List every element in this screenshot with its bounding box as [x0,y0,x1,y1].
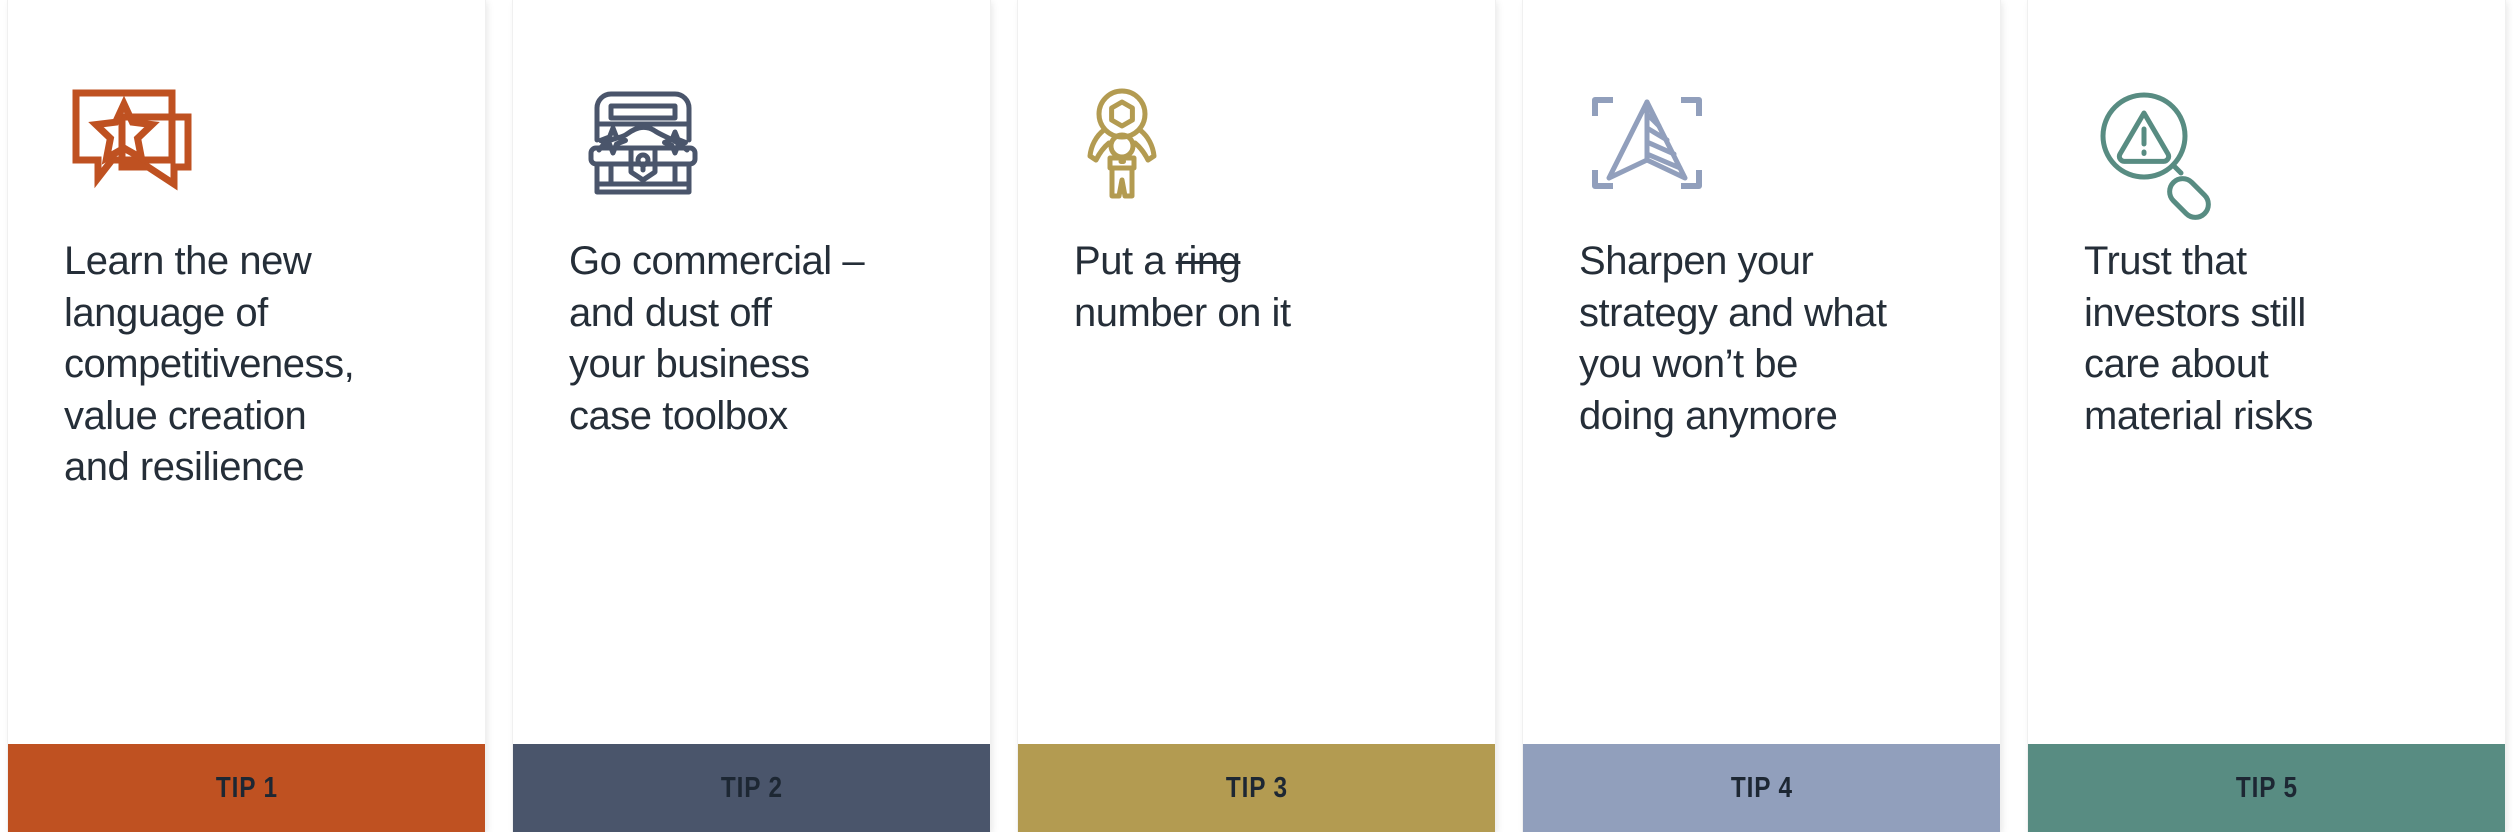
tip-card-3[interactable]: Put a ring number on it TIP 3 [1018,0,1495,832]
tip-card-3-headline: Put a ring number on it [1074,236,1461,339]
tip-card-3-footer-label: TIP 3 [1225,772,1287,805]
tip-card-4-footer[interactable]: TIP 4 [1523,744,2000,832]
tip-card-3-body: Put a ring number on it [1018,0,1495,744]
tip-card-1-footer-label: TIP 1 [215,772,277,805]
tip-card-4-footer-label: TIP 4 [1730,772,1792,805]
tip-card-5[interactable]: Trust that investors still care about ma… [2028,0,2505,832]
tip-card-4-body: Sharpen your strategy and what you won’t… [1523,0,2000,744]
tip-card-3-headline-struck: ring [1176,239,1241,283]
tip-card-3-headline-suffix: number on it [1074,291,1291,335]
tip-card-4[interactable]: Sharpen your strategy and what you won’t… [1523,0,2000,832]
tip-card-4-headline: Sharpen your strategy and what you won’t… [1579,236,1966,442]
tip-card-2-body: Go commercial – and dust off your busine… [513,0,990,744]
tip-card-2-footer[interactable]: TIP 2 [513,744,990,832]
tip-card-5-footer[interactable]: TIP 5 [2028,744,2505,832]
tip-card-2-headline: Go commercial – and dust off your busine… [569,236,956,442]
tip-card-1-headline: Learn the new language of competitivenes… [64,236,451,494]
speech-bubbles-star-icon [64,84,214,202]
tip-card-5-footer-label: TIP 5 [2235,772,2297,805]
person-holding-medal-icon [1074,84,1224,202]
tip-card-2-footer-label: TIP 2 [720,772,782,805]
tip-card-1-body: Learn the new language of competitivenes… [8,0,485,744]
tip-card-1[interactable]: Learn the new language of competitivenes… [8,0,485,832]
tip-card-5-headline: Trust that investors still care about ma… [2084,236,2471,442]
tip-card-1-footer[interactable]: TIP 1 [8,744,485,832]
tips-board: Learn the new language of competitivenes… [0,0,2513,832]
tip-card-3-headline-prefix: Put a [1074,239,1176,283]
tip-card-3-footer[interactable]: TIP 3 [1018,744,1495,832]
tip-card-2[interactable]: Go commercial – and dust off your busine… [513,0,990,832]
magnifier-warning-icon [2084,84,2234,202]
tip-card-5-body: Trust that investors still care about ma… [2028,0,2505,744]
treasure-chest-icon [569,84,719,202]
navigation-arrow-focus-icon [1579,84,1729,202]
